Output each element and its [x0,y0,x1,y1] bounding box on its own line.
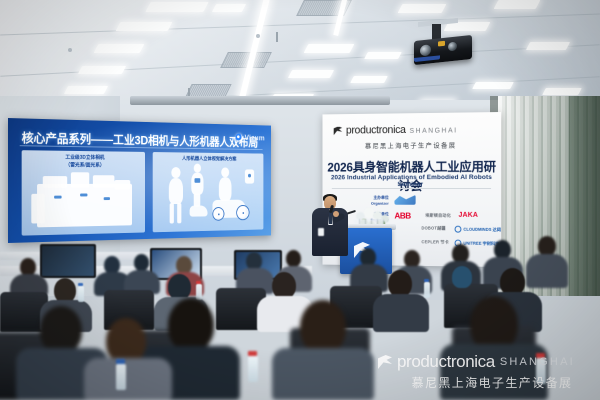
led-panel-light-icon [398,4,447,13]
ceiling-hanger [276,32,278,42]
watermark: productronica SHANGHAI 慕尼黑上海电子生产设备展 [378,352,594,391]
sponsor-logo-abb: ABB [394,211,410,221]
led-panel-light-icon [145,2,208,12]
organizer-logo-icon [394,195,415,205]
slide-panel-camera: 工业级3D立体相机 （雷光系/面光系） [22,150,145,235]
led-panel-light-icon [364,52,402,59]
desktop-monitor-icon [40,244,96,278]
backdrop-chinese-subtitle: 慕尼黑上海电子生产设备展 [322,139,501,150]
backdrop-brand-city: SHANGHAI [410,127,458,134]
projector-lens-icon [448,42,457,52]
sprinkler-head-icon [68,48,72,52]
led-panel-light-icon [212,4,246,12]
vertical-blinds-edge [569,96,600,296]
projector-indicator-icon [438,41,445,47]
cloudminds-mark-icon [455,226,462,233]
sprinkler-head-icon [256,34,260,38]
led-panel-light-icon [304,44,355,53]
projector-accent-stripe [414,55,440,62]
watermark-city: SHANGHAI [500,356,575,368]
projection-slide: 核心产品系列——工业3D相机与人形机器人双布局 Vizum 工业级3D立体相机 … [8,118,271,243]
backdrop-divider [332,188,491,189]
backdrop-brand-name: productronica [346,124,406,136]
led-panel-light-icon [94,44,145,53]
vizum-logo: Vizum [235,133,265,143]
led-panel-light-icon [78,66,126,74]
watermark-brand-row: productronica SHANGHAI [378,352,594,372]
led-panel-light-icon [494,0,541,9]
name-badge-icon [318,228,324,236]
slide-panel-caption: 工业级3D立体相机 （雷光系/面光系） [22,154,145,170]
speaker-hand [333,211,339,217]
vizum-wordmark: Vizum [245,133,265,142]
sponsor-logo-estun: 埃斯顿自动化 [425,213,451,219]
led-panel-light-icon [350,76,388,83]
sponsor-logo-jaka: JAKA [458,212,478,219]
vizum-logo-icon [235,133,242,141]
led-panel-light-icon [472,82,514,89]
productronica-arrow-icon [334,126,342,135]
productronica-arrow-icon [378,355,392,369]
seminar-title-en: 2026 Industrial Applications of Embodied… [322,174,501,188]
led-panel-light-icon [64,86,108,94]
led-panel-light-icon [116,22,173,31]
led-panel-light-icon [288,70,334,78]
slide-panel-caption: 人形机器人立体视觉解决方案 [153,156,264,164]
ceiling-hanger [188,88,190,96]
projector-lens-icon [420,44,431,56]
sponsor-logo-cepler: CEPLER 节卡 [421,239,449,245]
watermark-chinese: 慕尼黑上海电子生产设备展 [378,374,594,391]
slide-panel-humanoid: 人形机器人立体视觉解决方案 [153,152,264,232]
sponsor-logo-cloudminds: CLOUDMINDS 达闼机器人 [455,226,501,233]
backdrop-brand-row: productronica SHANGHAI [334,124,458,137]
led-panel-light-icon [526,42,570,50]
conference-photo-scene: 核心产品系列——工业3D相机与人形机器人双布局 Vizum 工业级3D立体相机 … [0,0,600,400]
organizer-label: 主办单位 Organizer [356,195,388,206]
projection-screen-rail [130,96,390,105]
sponsor-logo-dobot: DOBOT越疆 [421,225,445,231]
watermark-brand-name: productronica [397,352,495,372]
led-panel-light-icon [542,88,582,95]
